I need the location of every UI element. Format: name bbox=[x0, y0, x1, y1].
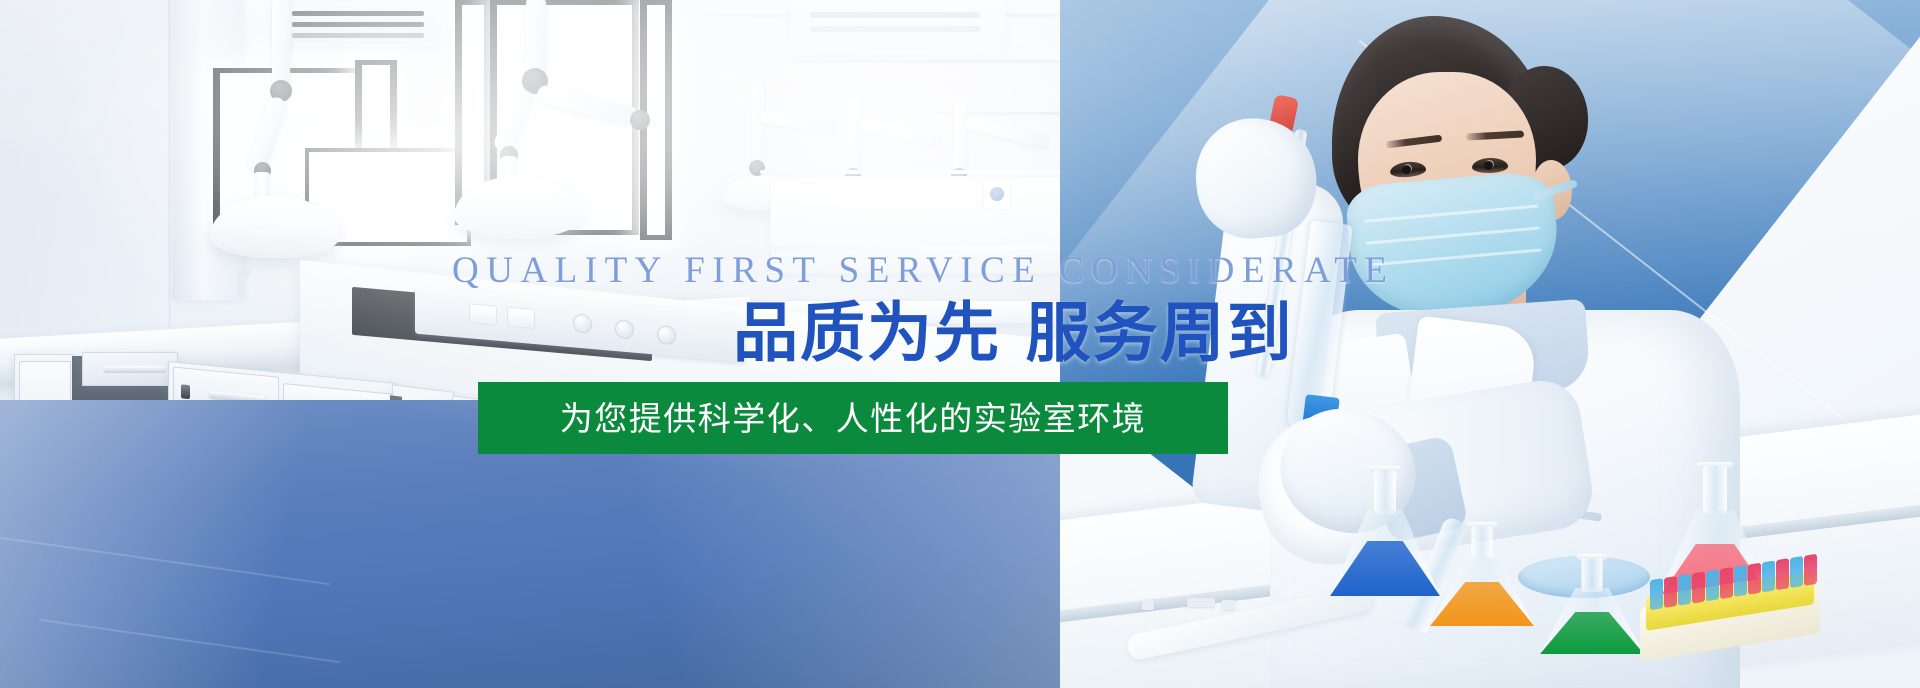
text-overlay: QUALITY FIRST SERVICE CONSIDERATE 品质为先 服… bbox=[0, 0, 1920, 688]
headline-chinese: 品质为先 服务周到 bbox=[733, 296, 1294, 373]
subtitle-green-bar: 为您提供科学化、人性化的实验室环境 bbox=[478, 382, 1228, 454]
hero-banner: QUALITY FIRST SERVICE CONSIDERATE 品质为先 服… bbox=[0, 0, 1920, 688]
subtitle-chinese: 为您提供科学化、人性化的实验室环境 bbox=[560, 402, 1147, 435]
tagline-english: QUALITY FIRST SERVICE CONSIDERATE bbox=[452, 252, 1262, 289]
